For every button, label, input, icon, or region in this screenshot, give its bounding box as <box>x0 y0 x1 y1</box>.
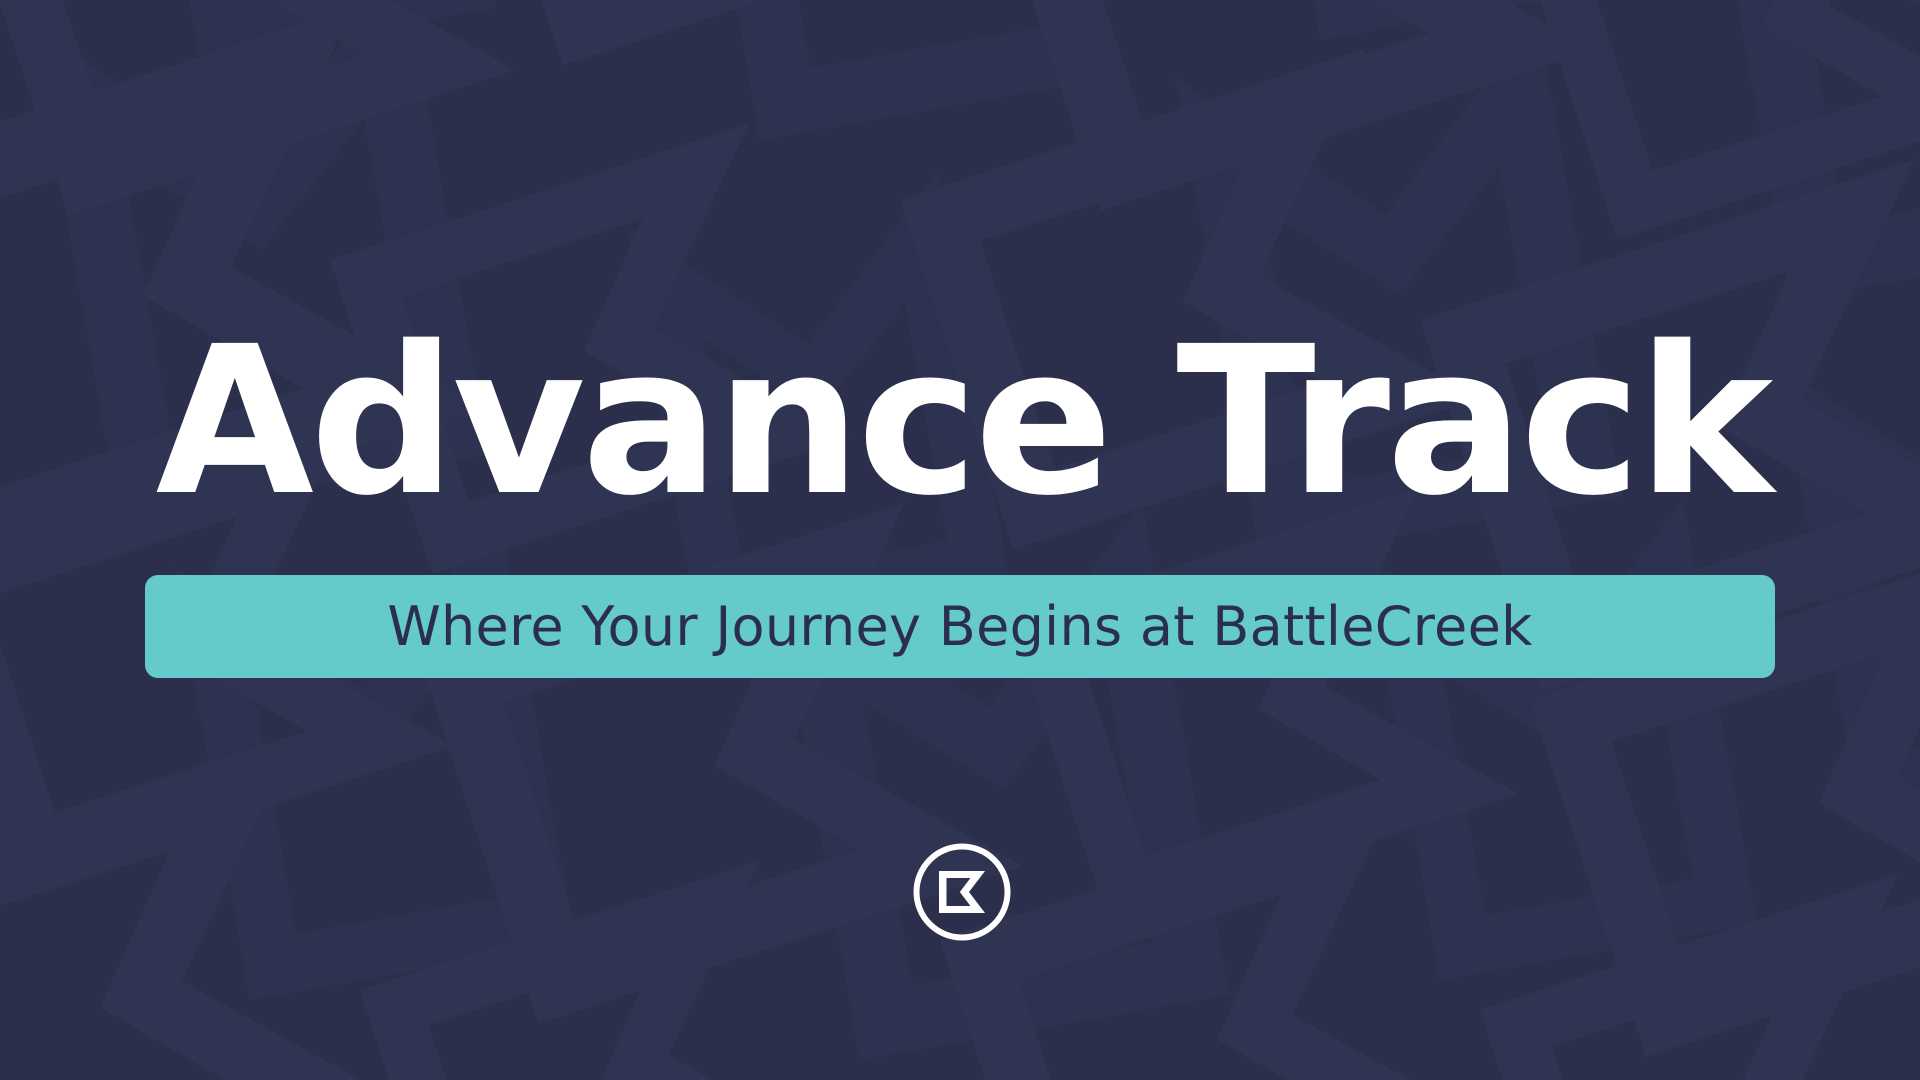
title-block: Advance Track <box>150 330 1775 514</box>
battlecreek-logo <box>909 839 1015 945</box>
circle-pennant-icon <box>909 839 1015 945</box>
title-slide: Advance Track Where Your Journey Begins … <box>0 0 1920 1080</box>
subtitle-banner: Where Your Journey Begins at BattleCreek <box>145 575 1775 678</box>
subtitle-text: Where Your Journey Begins at BattleCreek <box>387 600 1532 654</box>
page-title: Advance Track <box>150 330 1775 514</box>
